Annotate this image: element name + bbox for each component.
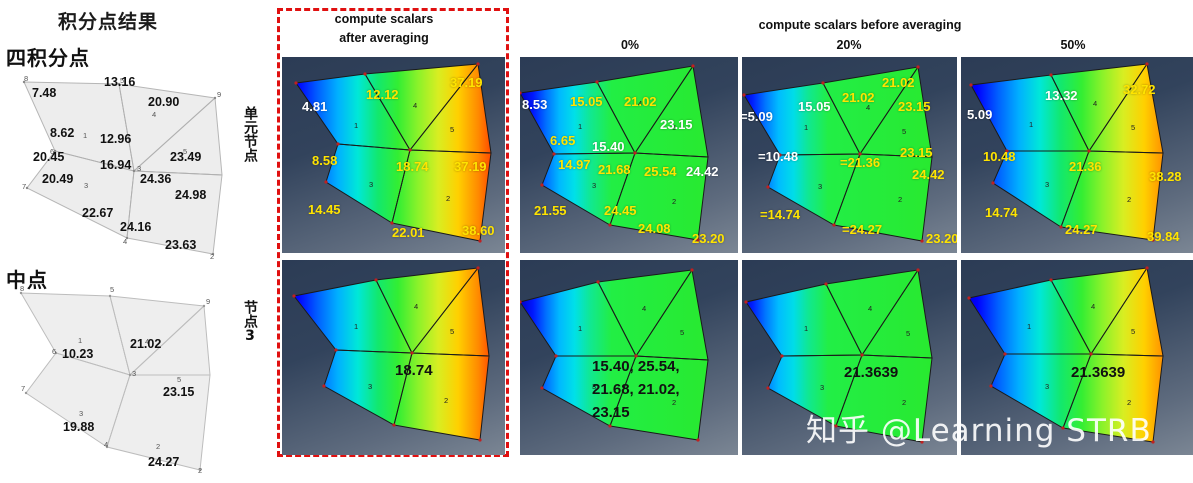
element-id: 2 [446,194,450,203]
contour-value-label: 15.05 [570,94,603,109]
header-col-20pct: 20% [745,36,953,55]
element-id: 4 [152,110,156,119]
contour-value-label: 23.15 [660,117,693,132]
element-id: 3 [369,180,373,189]
integration-point-value: 24.98 [175,188,206,202]
node-id: 7 [21,384,25,393]
contour-value-label: 25.54 [644,164,677,179]
contour-value-label: =21.36 [840,155,880,170]
viewport-r1-20pct[interactable]: 1 4 5 3 2 =5.09 15.05 21.02 21.02 23.15 … [742,57,957,253]
contour-value-label: =10.48 [758,149,798,164]
contour-value-label: 5.09 [967,107,992,122]
contour-value-label: 14.74 [985,205,1018,220]
node-id: 6 [52,347,56,356]
contour-value-label: 24.27 [1065,222,1098,237]
integration-point-value: 23.15 [163,385,194,399]
contour-value-label: 8.53 [522,97,547,112]
element-id: 1 [578,122,582,131]
element-id: 2 [898,195,902,204]
averaged-value-label: 18.74 [395,362,433,379]
node-id: 9 [217,90,221,99]
element-id: 1 [78,336,82,345]
element-id: 2 [902,398,906,407]
contour-value-label: 37.19 [454,159,487,174]
contour-value-label: 6.65 [550,133,575,148]
element-id: 3 [368,382,372,391]
contour-value-label: 8.58 [312,153,337,168]
contour-value-label: 24.45 [604,203,637,218]
averaged-value-label: 21.3639 [1071,364,1125,381]
integration-point-value: 24.36 [140,172,171,186]
header-col-0pct: 0% [525,36,735,55]
contour-value-label: 22.01 [392,225,425,240]
element-id: 4 [642,304,646,313]
element-id: 4 [1093,99,1097,108]
element-id: 2 [672,398,676,407]
element-id: 2 [672,197,676,206]
averaged-value-label: 21.3639 [844,364,898,381]
integration-point-value: 13.16 [104,75,135,89]
page-title: 积分点结果 [58,7,158,34]
integration-point-value: 10.23 [62,347,93,361]
node-id: 8 [24,74,28,83]
integration-point-value: 23.49 [170,150,201,164]
element-id: 4 [868,304,872,313]
element-id: 2 [156,442,160,451]
node-id: 3 [132,369,136,378]
contour-value-label: 24.08 [638,221,671,236]
contour-value-label: 21.02 [842,90,875,105]
integration-point-value: 24.27 [148,455,179,469]
node-id: 2 [198,466,202,475]
element-id: 3 [592,181,596,190]
viewport-r2-after-averaging[interactable]: 1 4 5 3 2 18.74 [282,260,505,455]
element-id: 3 [818,182,822,191]
screenshot-root: 积分点结果 四积分点 中点 [0,0,1193,483]
averaged-value-label: 21.68, 21.02, [592,381,680,398]
viewport-r2-0pct[interactable]: 1 4 5 3 2 15.40, 25.54, 21.68, 21.02, 23… [520,260,738,455]
left-results-column: 积分点结果 四积分点 中点 [0,0,240,483]
element-id: 1 [354,322,358,331]
element-id: 3 [820,383,824,392]
element-id: 5 [906,329,910,338]
node-id: 5 [110,285,114,294]
element-id: 3 [84,181,88,190]
node-id: 4 [104,440,108,449]
contour-value-label: 32.72 [1123,82,1156,97]
element-id: 4 [414,302,418,311]
element-id: 1 [578,324,582,333]
integration-point-value: 19.88 [63,420,94,434]
contour-value-label: 23.20 [926,231,957,246]
midpoint-mesh-diagram [0,280,240,480]
contour-value-label: 39.84 [1147,229,1180,244]
integration-point-value: 21.02 [130,337,161,351]
row-label-element-node: 单元节点 [243,106,257,162]
contour-value-label: 12.12 [366,87,399,102]
header-after-averaging-line2: after averaging [286,29,482,48]
node-id: 9 [206,297,210,306]
contour-value-label: 13.32 [1045,88,1078,103]
element-id: 1 [354,121,358,130]
contour-plot-blue-green-smooth [742,260,957,455]
contour-value-label: 38.60 [462,223,495,238]
contour-plot-blue-green [520,57,738,253]
element-id: 5 [680,328,684,337]
contour-value-label: =5.09 [742,109,773,124]
element-id: 4 [413,101,417,110]
element-id: 5 [1131,123,1135,132]
element-id: 5 [1131,327,1135,336]
node-id: 2 [210,252,214,261]
header-col-50pct: 50% [963,36,1183,55]
viewport-r1-after-averaging[interactable]: 1 4 5 3 2 4.81 12.12 37.19 8.58 18.74 37… [282,57,505,253]
row-label-node-3: 节点3 [243,300,257,344]
element-id: 2 [444,396,448,405]
integration-point-value: 16.94 [100,158,131,172]
contour-value-label: 37.19 [450,75,483,90]
integration-point-value: 23.63 [165,238,196,252]
contour-plot-full-rainbow [282,260,505,455]
viewport-r1-0pct[interactable]: 1 4 5 3 2 8.53 15.05 21.02 23.15 6.65 15… [520,57,738,253]
integration-point-value: 20.49 [42,172,73,186]
element-id: 3 [1045,180,1049,189]
integration-point-value: 22.67 [82,206,113,220]
contour-value-label: 21.68 [598,162,631,177]
averaged-value-label: 23.15 [592,404,630,421]
viewport-r1-50pct[interactable]: 1 4 5 3 2 5.09 13.32 32.72 10.48 21.36 3… [961,57,1193,253]
element-id: 1 [1029,120,1033,129]
element-id: 5 [450,327,454,336]
element-id: 2 [1127,398,1131,407]
contour-value-label: 24.42 [912,167,945,182]
viewport-r2-20pct[interactable]: 1 4 5 3 2 21.3639 [742,260,957,455]
element-id: 1 [83,131,87,140]
contour-value-label: 38.28 [1149,169,1182,184]
element-id: 3 [79,409,83,418]
integration-point-value: 20.90 [148,95,179,109]
contour-value-label: 21.02 [882,75,915,90]
contour-value-label: =14.74 [760,207,800,222]
element-id: 1 [1027,322,1031,331]
contour-plot-full-rainbow [961,260,1193,455]
section-heading-quad-points: 四积分点 [6,42,90,71]
contour-value-label: 23.20 [692,231,725,246]
contour-value-label: 21.36 [1069,159,1102,174]
contour-value-label: 15.05 [798,99,831,114]
contour-value-label: 15.40 [592,139,625,154]
element-id: 4 [1091,302,1095,311]
viewport-r2-50pct[interactable]: 1 4 5 3 2 21.3639 [961,260,1193,455]
contour-value-label: 23.15 [898,99,931,114]
node-id: 4 [123,237,127,246]
element-id: 5 [450,125,454,134]
integration-point-value: 12.96 [100,132,131,146]
contour-value-label: 23.15 [900,145,933,160]
element-id: 1 [804,123,808,132]
contour-value-label: 14.45 [308,202,341,217]
element-id: 5 [177,375,181,384]
node-id: 8 [20,284,24,293]
averaged-value-label: 15.40, 25.54, [592,358,680,375]
integration-point-value: 20.45 [33,150,64,164]
integration-point-value: 8.62 [50,126,74,140]
node-id: 7 [22,182,26,191]
contour-value-label: 18.74 [396,159,429,174]
contour-value-label: =24.27 [842,222,882,237]
integration-point-value: 24.16 [120,220,151,234]
contour-value-label: 10.48 [983,149,1016,164]
contour-value-label: 4.81 [302,99,327,114]
contour-value-label: 21.55 [534,203,567,218]
element-id: 5 [902,127,906,136]
header-after-averaging-line1: compute scalars [286,10,482,29]
header-after-averaging: compute scalars after averaging [286,10,482,49]
element-id: 3 [1045,382,1049,391]
element-id: 2 [1127,195,1131,204]
integration-point-value: 7.48 [32,86,56,100]
contour-value-label: 14.97 [558,157,591,172]
header-before-averaging-group: compute scalars before averaging [640,16,1080,35]
element-id: 1 [804,324,808,333]
contour-value-label: 24.42 [686,164,719,179]
contour-value-label: 21.02 [624,94,657,109]
